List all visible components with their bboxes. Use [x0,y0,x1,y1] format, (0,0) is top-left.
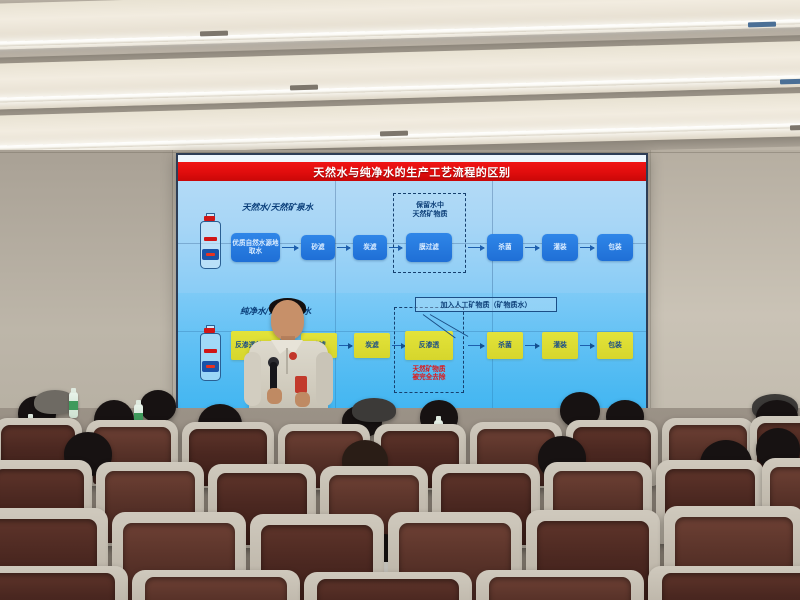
flow-step-purified-5: 灌装 [542,332,578,359]
flow-step-natural-1: 砂滤 [301,235,335,260]
presenter-lanyard-card [295,376,307,393]
audience-head-with-cap [352,398,396,422]
slide-title-bar: 天然水与纯净水的生产工艺流程的区别 [178,162,646,181]
flow-step-purified-4: 杀菌 [487,332,523,359]
flow-row-label-natural: 天然水/天然矿泉水 [242,201,313,213]
water-bottle-icon [200,213,219,267]
callout-add-artificial-minerals: 加入人工矿物质（矿物质水） [415,297,557,312]
flow-step-natural-0: 优质自然水源地取水 [231,233,280,262]
flow-step-purified-3: 反渗透 [405,331,453,360]
presenter-head [271,300,304,340]
auditorium-seat [304,572,472,600]
flow-step-purified-2: 炭滤 [354,333,390,358]
water-bottle [69,392,78,418]
flow-step-purified-6: 包装 [597,332,633,359]
slide-title: 天然水与纯净水的生产工艺流程的区别 [313,164,510,180]
callout-keep-minerals-text: 保留水中 天然矿物质 [400,201,460,219]
warning-minerals-removed: 天然矿物质 被完全去除 [399,365,459,381]
ceiling [0,0,800,152]
auditorium-seat [476,570,644,600]
ceiling-sensor [748,22,776,28]
flow-step-natural-5: 灌装 [542,234,578,261]
flow-row-natural-water: 天然水/天然矿泉水 优质自然水源地取水 砂滤 炭滤 保留水中 [178,189,646,293]
ceiling-sensor [780,79,800,85]
auditorium-seat [648,566,800,600]
presenter-badge [289,352,297,360]
auditorium-seat [132,570,300,600]
flow-step-natural-6: 包装 [597,234,633,261]
presentation-photo-scene: 天然水与纯净水的生产工艺流程的区别 天然水/天然矿泉水 优质自然水源地取水 砂滤 [0,0,800,600]
auditorium-seat [0,566,128,600]
flow-step-natural-3: 膜过滤 [406,233,452,262]
water-bottle-icon [200,325,219,379]
flow-step-natural-4: 杀菌 [487,234,523,261]
audience-head [140,390,176,422]
flow-step-natural-2: 炭滤 [353,235,387,260]
